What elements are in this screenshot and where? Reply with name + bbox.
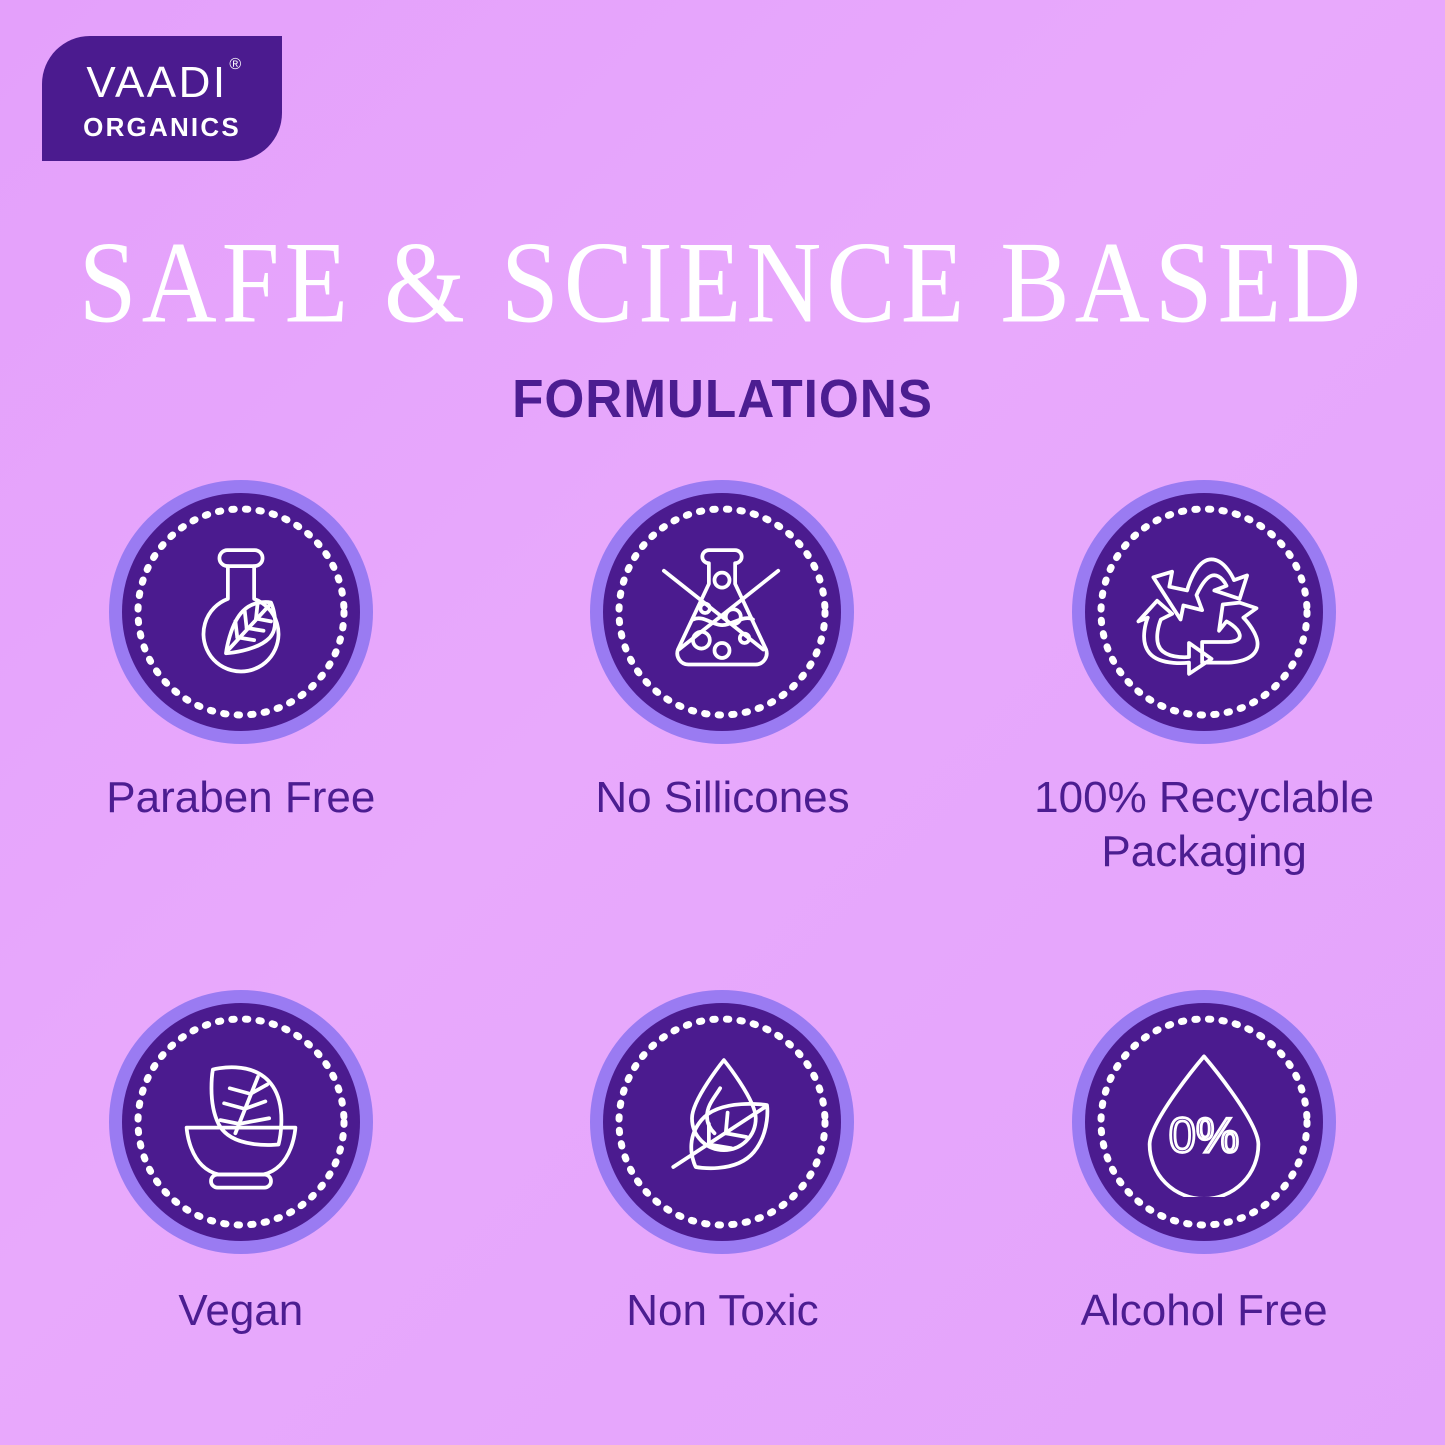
poster-canvas: VAADI® ORGANICS SAFE & SCIENCE BASED FOR… xyxy=(0,0,1445,1445)
feature-item-alcohol-free: 0% Alcohol Free xyxy=(963,990,1445,1445)
badge-inner: 0% xyxy=(1085,1003,1323,1241)
feature-item-non-toxic: Non Toxic xyxy=(482,990,964,1445)
feature-label: Alcohol Free xyxy=(1081,1284,1328,1338)
badge-non-toxic xyxy=(590,990,854,1254)
badge-no-sillicones xyxy=(590,480,854,744)
badge-inner xyxy=(1085,493,1323,731)
brand-logo: VAADI® ORGANICS xyxy=(42,36,282,161)
flask-crossed-out-icon xyxy=(647,537,797,687)
badge-vegan xyxy=(109,990,373,1254)
droplet-zero-percent-icon: 0% xyxy=(1129,1047,1279,1197)
feature-item-recyclable-packaging: 100% Recyclable Packaging xyxy=(963,480,1445,990)
badge-inner xyxy=(603,1003,841,1241)
feature-grid: Paraben Free xyxy=(0,480,1445,1445)
feature-label: Non Toxic xyxy=(626,1284,818,1338)
feature-item-vegan: Vegan xyxy=(0,990,482,1445)
registered-trademark-icon: ® xyxy=(229,57,243,73)
brand-name: VAADI® xyxy=(86,61,237,105)
badge-inner xyxy=(122,1003,360,1241)
badge-alcohol-free: 0% xyxy=(1072,990,1336,1254)
brand-name-text: VAADI xyxy=(86,58,227,107)
badge-recyclable-packaging xyxy=(1072,480,1336,744)
badge-inner xyxy=(603,493,841,731)
feature-label: Vegan xyxy=(178,1284,303,1338)
zero-percent-text: 0% xyxy=(1169,1109,1239,1163)
bowl-leaf-icon xyxy=(166,1047,316,1197)
feature-label: 100% Recyclable Packaging xyxy=(1034,771,1374,878)
brand-tagline: ORGANICS xyxy=(83,114,241,140)
badge-inner xyxy=(122,493,360,731)
droplet-leaf-icon xyxy=(647,1047,797,1197)
page-subtitle: FORMULATIONS xyxy=(36,372,1409,426)
page-title: SAFE & SCIENCE BASED xyxy=(0,222,1445,344)
feature-item-no-sillicones: No Sillicones xyxy=(482,480,964,990)
flask-leaf-icon xyxy=(166,537,316,687)
feature-item-paraben-free: Paraben Free xyxy=(0,480,482,990)
feature-label: Paraben Free xyxy=(106,771,375,825)
feature-label: No Sillicones xyxy=(595,771,849,825)
recycle-icon xyxy=(1129,537,1279,687)
badge-paraben-free xyxy=(109,480,373,744)
